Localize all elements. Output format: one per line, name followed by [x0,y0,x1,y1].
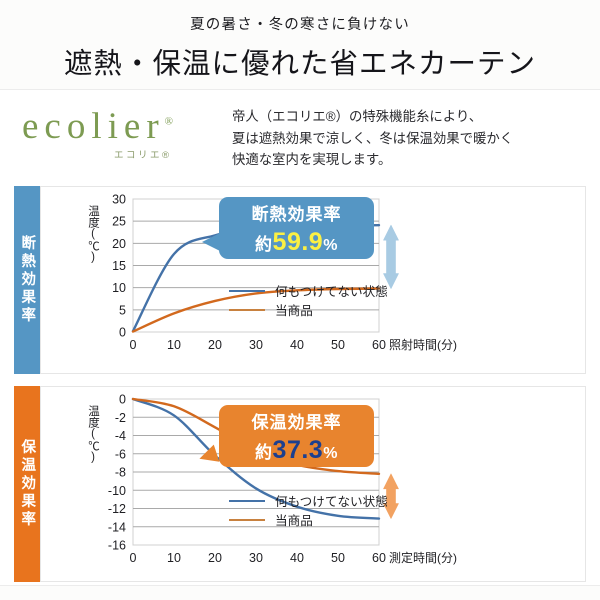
svg-text:0: 0 [130,551,137,565]
svg-text:20: 20 [112,237,126,251]
logo-text: ecolier [22,106,165,147]
panel-tab-heat-retention: 保温効果率 [14,386,40,582]
callout-number: 37.3 [273,436,324,464]
svg-text:-12: -12 [108,502,126,516]
legend-label: 何もつけてない状態 [275,491,388,510]
callout-prefix: 約 [255,443,273,462]
svg-text:測定時間(分): 測定時間(分) [389,550,457,565]
callout-percent: % [323,237,338,254]
svg-text:50: 50 [331,338,345,352]
heat-retention-callout: 保温効果率 約37.3% [219,405,374,467]
callout-prefix: 約 [255,235,273,254]
svg-text:-10: -10 [108,484,126,498]
callout-value: 約59.9% [255,228,338,257]
header-subtitle: 夏の暑さ・冬の寒さに負けない [0,13,600,34]
legend-label: 当商品 [275,300,313,319]
svg-text:60: 60 [372,551,386,565]
callout-number: 59.9 [273,228,324,256]
legend-line-swatch [229,519,265,521]
insulation-callout: 断熱効果率 約59.9% [219,197,374,259]
svg-text:10: 10 [112,281,126,295]
page-header: 夏の暑さ・冬の寒さに負けない 遮熱・保温に優れた省エネカーテン [0,0,600,82]
svg-text:30: 30 [249,338,263,352]
insulation-legend: 何もつけてない状態 当商品 [229,281,388,319]
logo-registered-mark: ® [165,116,173,128]
legend-label: 何もつけてない状態 [275,281,388,300]
description-line-1: 帝人（エコリエ®）の特殊機能糸により、 [232,106,592,128]
legend-label: 当商品 [275,510,313,529]
infographic-page: 夏の暑さ・冬の寒さに負けない 遮熱・保温に優れた省エネカーテン ecolier®… [0,0,600,600]
insulation-panel-body: 0510152025300102030405060照射時間(分)温度(℃) 断熱… [40,186,586,374]
svg-text:0: 0 [119,393,126,407]
panel-tab-insulation: 断熱効果率 [14,186,40,374]
legend-line-swatch [229,290,265,292]
svg-text:30: 30 [112,193,126,207]
svg-text:照射時間(分): 照射時間(分) [389,337,457,352]
logo-wordmark: ecolier® [22,108,222,145]
panel-tab-label: 保温効果率 [20,439,35,529]
heat-retention-panel-body: 0-2-4-6-8-10-12-14-160102030405060測定時間(分… [40,386,586,582]
brand-description: 帝人（エコリエ®）の特殊機能糸により、 夏は遮熱効果で涼しく、冬は保温効果で暖か… [232,106,592,171]
legend-line-swatch [229,500,265,502]
svg-text:15: 15 [112,259,126,273]
svg-text:-4: -4 [115,429,126,443]
svg-text:10: 10 [167,551,181,565]
callout-title: 保温効果率 [252,408,342,433]
svg-text:5: 5 [119,303,126,317]
ecolier-logo: ecolier® エコリエ® [22,108,222,161]
svg-text:-14: -14 [108,520,126,534]
legend-item: 何もつけてない状態 [229,281,388,300]
svg-text:40: 40 [290,551,304,565]
svg-text:50: 50 [331,551,345,565]
svg-text:0: 0 [119,326,126,340]
svg-text:40: 40 [290,338,304,352]
insulation-panel: 断熱効果率 0510152025300102030405060照射時間(分)温度… [14,186,586,374]
callout-title: 断熱効果率 [252,200,342,225]
heat-retention-legend: 何もつけてない状態 当商品 [229,491,388,529]
svg-text:20: 20 [208,551,222,565]
svg-text:60: 60 [372,338,386,352]
panel-tab-label: 断熱効果率 [20,235,35,325]
legend-item: 当商品 [229,510,388,529]
page-title: 遮熱・保温に優れた省エネカーテン [0,41,600,82]
description-line-3: 快適な室内を実現します。 [232,149,592,171]
svg-text:0: 0 [130,338,137,352]
svg-text:-6: -6 [115,447,126,461]
svg-text:30: 30 [249,551,263,565]
svg-text:-8: -8 [115,466,126,480]
callout-value: 約37.3% [255,436,338,465]
callout-percent: % [323,445,338,462]
svg-text:10: 10 [167,338,181,352]
heat-retention-panel: 保温効果率 0-2-4-6-8-10-12-14-160102030405060… [14,386,586,582]
svg-text:20: 20 [208,338,222,352]
svg-text:-2: -2 [115,411,126,425]
content-card: ecolier® エコリエ® 帝人（エコリエ®）の特殊機能糸により、 夏は遮熱効… [0,89,600,586]
brand-row: ecolier® エコリエ® 帝人（エコリエ®）の特殊機能糸により、 夏は遮熱効… [0,90,600,184]
svg-text:25: 25 [112,215,126,229]
svg-text:温度(℃): 温度(℃) [87,404,100,463]
description-line-2: 夏は遮熱効果で涼しく、冬は保温効果で暖かく [232,128,592,150]
svg-text:-16: -16 [108,539,126,553]
callout-tail [202,233,220,251]
legend-item: 当商品 [229,300,388,319]
svg-text:温度(℃): 温度(℃) [87,204,100,263]
legend-line-swatch [229,309,265,311]
legend-item: 何もつけてない状態 [229,491,388,510]
logo-kana-label: エコリエ® [114,147,222,161]
